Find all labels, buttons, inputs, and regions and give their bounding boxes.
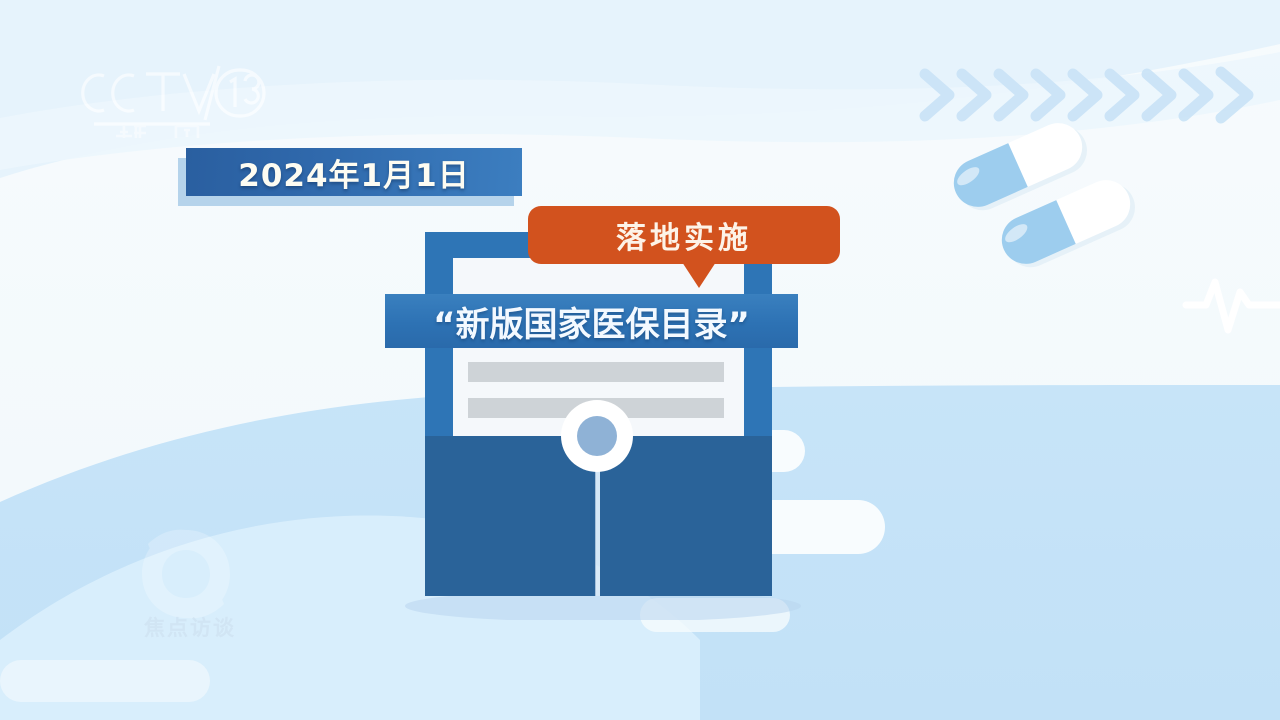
document-line-1: [468, 362, 724, 382]
case-clasp-core: [577, 416, 617, 456]
main-title-text: “新版国家医保目录”: [433, 297, 750, 346]
cctv-13-logo: 新闻: [72, 48, 272, 138]
callout-label: 落地实施: [616, 213, 752, 257]
program-watermark-text: 焦点访谈: [110, 612, 270, 642]
date-banner-text: 2024年1月1日: [238, 150, 469, 195]
date-banner: 2024年1月1日: [186, 148, 522, 196]
date-banner-group: 2024年1月1日: [178, 148, 522, 196]
briefcase-illustration: [398, 228, 808, 620]
main-title-band: “新版国家医保目录”: [385, 294, 798, 348]
broadcast-graphic-frame: 新闻 落地实施 “新版国家: [0, 0, 1280, 720]
case-body-right: [600, 436, 772, 596]
callout-tail-icon: [682, 262, 716, 288]
callout-bubble: 落地实施: [528, 206, 840, 264]
